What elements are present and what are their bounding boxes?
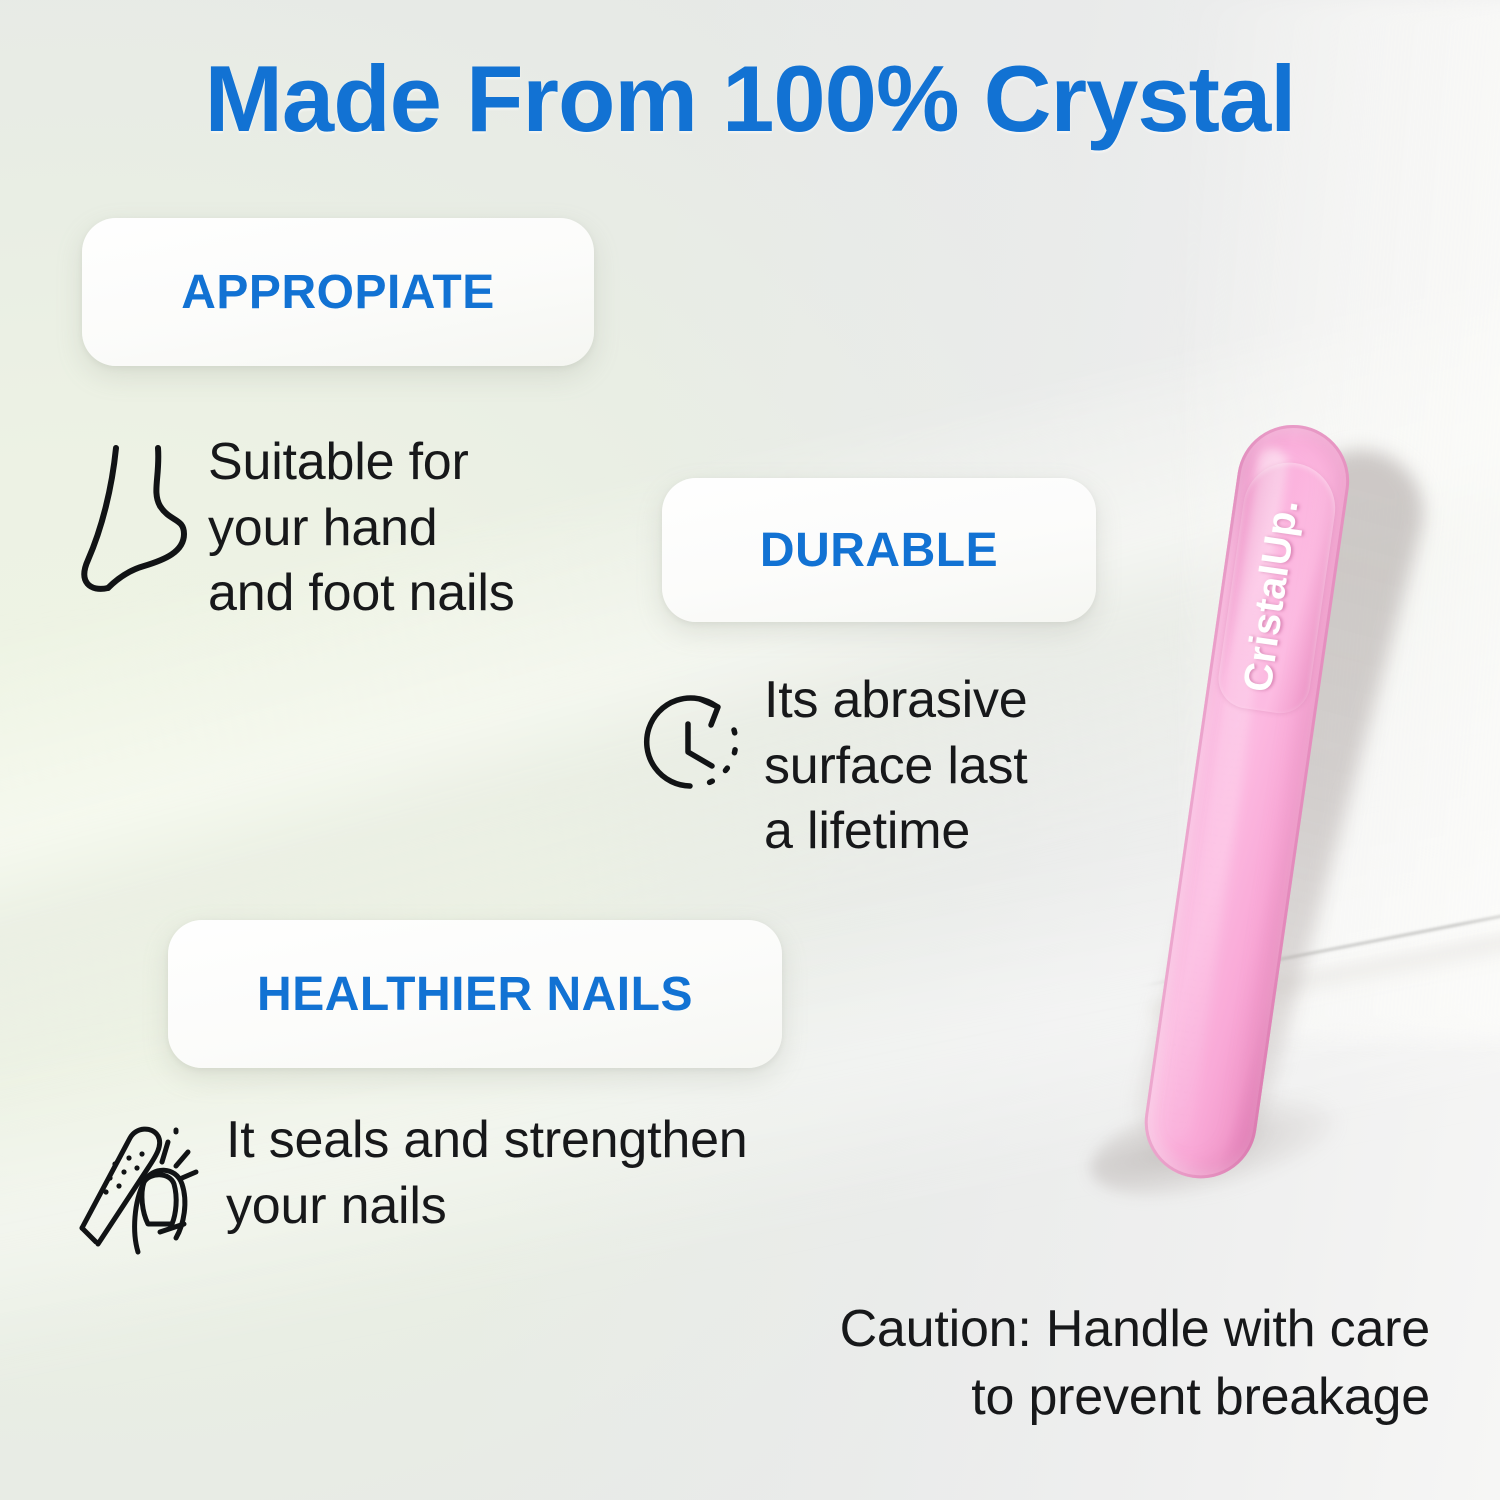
infographic-canvas: CristalUp. Made From 100% Crystal APPROP… [0,0,1500,1500]
badge-durable: DURABLE [662,478,1096,622]
badge-appropiate: APPROPIATE [82,218,594,366]
feature-seals-text: It seals and strengthen your nails [226,1108,748,1239]
badge-appropiate-label: APPROPIATE [181,265,494,320]
foot-icon [72,436,192,606]
badge-healthier: HEALTHIER NAILS [168,920,782,1068]
clock-arrow-icon [638,686,750,804]
badge-healthier-label: HEALTHIER NAILS [257,967,693,1022]
feature-seals: It seals and strengthen your nails [72,1108,972,1260]
feature-suitable-text: Suitable for your hand and foot nails [208,428,515,627]
page-title: Made From 100% Crystal [0,52,1500,146]
feature-abrasive: Its abrasive surface last a lifetime [638,668,1158,865]
nail-file-icon [72,1120,212,1260]
badge-durable-label: DURABLE [760,523,998,578]
feature-suitable: Suitable for your hand and foot nails [72,428,692,627]
feature-abrasive-text: Its abrasive surface last a lifetime [764,668,1028,865]
caution-note: Caution: Handle with care to prevent bre… [640,1296,1430,1431]
